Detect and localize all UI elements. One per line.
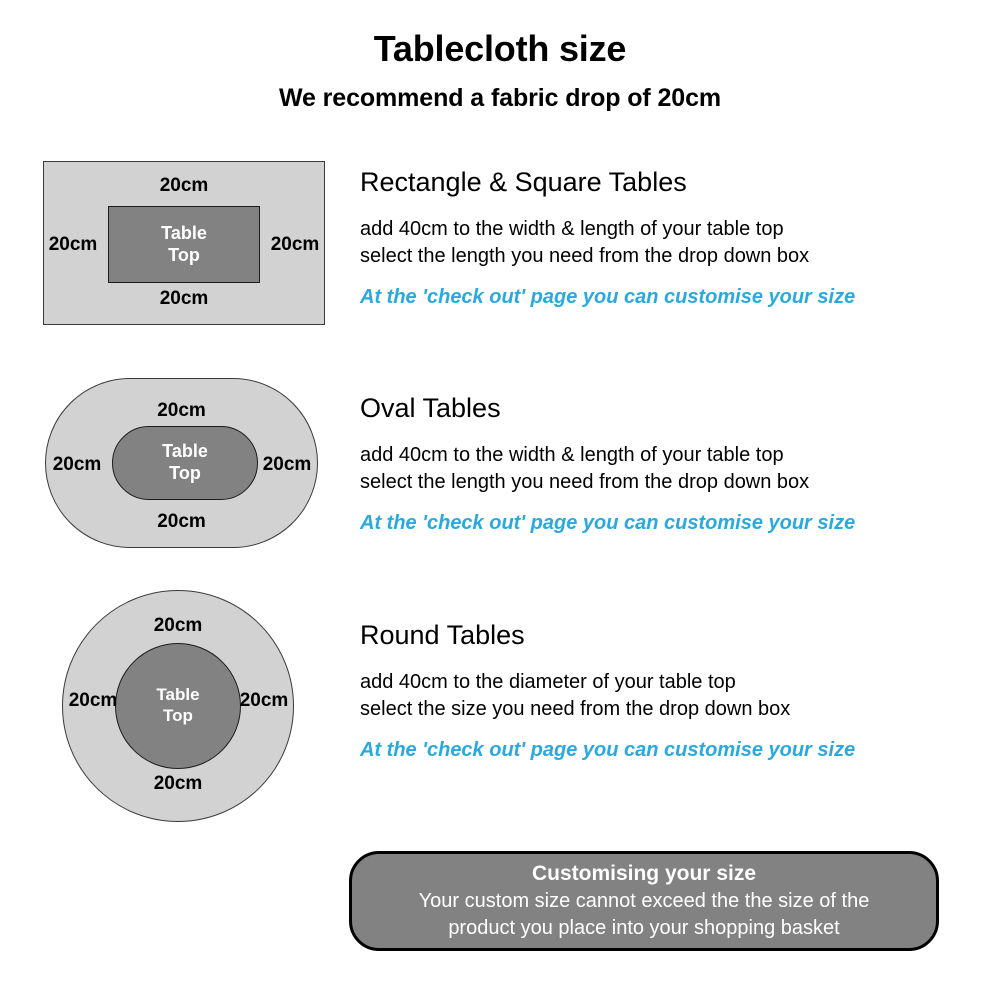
round-drop-label-right: 20cm — [236, 690, 292, 712]
round-drop-label-left: 20cm — [65, 690, 121, 712]
oval-drop-label-top: 20cm — [45, 400, 318, 422]
table-top-label-line2: Top — [169, 463, 201, 485]
callout-body-line-2: product you place into your shopping bas… — [448, 915, 839, 941]
callout-body-line-1: Your custom size cannot exceed the the s… — [419, 888, 870, 914]
round-drop-label-bottom: 20cm — [62, 773, 294, 795]
round-table-diagram: Table Top 20cm 20cm 20cm 20cm — [62, 590, 294, 822]
rectangle-drop-label-right: 20cm — [264, 234, 326, 256]
rectangle-checkout-note: At the 'check out' page you can customis… — [360, 286, 980, 309]
callout-title: Customising your size — [532, 861, 756, 887]
table-top-label-line1: Table — [156, 685, 199, 706]
round-instruction-line-1: add 40cm to the diameter of your table t… — [360, 669, 980, 696]
oval-instruction-line-2: select the length you need from the drop… — [360, 469, 980, 496]
oval-table-top-shape: Table Top — [112, 426, 258, 500]
rectangle-instruction-line-2: select the length you need from the drop… — [360, 243, 980, 270]
rectangle-section-heading: Rectangle & Square Tables — [360, 168, 980, 198]
round-instruction-line-2: select the size you need from the drop d… — [360, 696, 980, 723]
rectangle-section-text: Rectangle & Square Tables add 40cm to th… — [360, 168, 980, 309]
round-checkout-note: At the 'check out' page you can customis… — [360, 739, 980, 762]
oval-section-heading: Oval Tables — [360, 394, 980, 424]
rectangle-drop-label-top: 20cm — [43, 175, 325, 197]
page-title: Tablecloth size — [0, 28, 1000, 70]
rectangle-drop-label-left: 20cm — [42, 234, 104, 256]
round-drop-label-top: 20cm — [62, 615, 294, 637]
round-section-text: Round Tables add 40cm to the diameter of… — [360, 621, 980, 762]
tablecloth-size-infographic: { "header": { "title": "Tablecloth size"… — [0, 0, 1000, 1000]
oval-drop-label-bottom: 20cm — [45, 511, 318, 533]
round-section-heading: Round Tables — [360, 621, 980, 651]
oval-instruction-line-1: add 40cm to the width & length of your t… — [360, 442, 980, 469]
rectangle-table-diagram: Table Top 20cm 20cm 20cm 20cm — [43, 161, 325, 325]
rectangle-table-top-shape: Table Top — [108, 206, 260, 283]
oval-drop-label-right: 20cm — [255, 454, 319, 476]
table-top-label-line1: Table — [161, 223, 207, 245]
oval-drop-label-left: 20cm — [45, 454, 109, 476]
round-table-top-shape: Table Top — [115, 643, 241, 769]
page-subtitle: We recommend a fabric drop of 20cm — [0, 84, 1000, 113]
oval-section-text: Oval Tables add 40cm to the width & leng… — [360, 394, 980, 535]
table-top-label-line1: Table — [162, 441, 208, 463]
oval-checkout-note: At the 'check out' page you can customis… — [360, 512, 980, 535]
table-top-label-line2: Top — [168, 245, 200, 267]
table-top-label-line2: Top — [163, 706, 193, 727]
rectangle-drop-label-bottom: 20cm — [43, 288, 325, 310]
oval-table-diagram: Table Top 20cm 20cm 20cm 20cm — [45, 378, 318, 548]
customising-your-size-callout: Customising your size Your custom size c… — [349, 851, 939, 951]
rectangle-instruction-line-1: add 40cm to the width & length of your t… — [360, 216, 980, 243]
